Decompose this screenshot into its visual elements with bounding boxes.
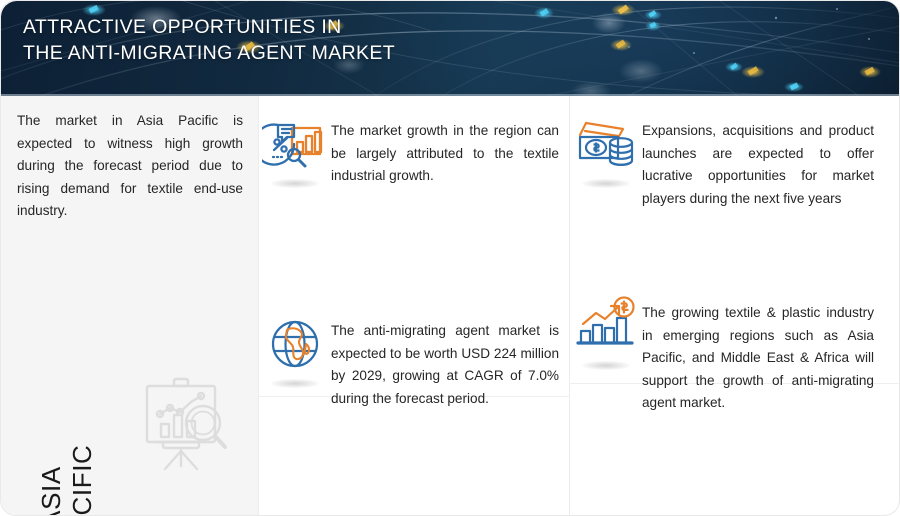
icon-shadow: [271, 179, 319, 188]
icon-container: [259, 114, 331, 194]
icon-container: [570, 114, 642, 194]
icon-shadow: [582, 179, 630, 188]
icon-container: [570, 296, 642, 376]
insight-text: Expansions, acquisitions and product lau…: [642, 114, 874, 210]
header-banner: ATTRACTIVE OPPORTUNITIES IN THE ANTI-MIG…: [1, 1, 900, 96]
page-title: ATTRACTIVE OPPORTUNITIES IN THE ANTI-MIG…: [23, 14, 395, 66]
growth-bar-chart-dollar-icon: [574, 296, 638, 356]
insight-cell: Expansions, acquisitions and product lau…: [570, 114, 900, 210]
money-banknote-coins-icon: [574, 114, 638, 174]
globe-icon: [265, 314, 325, 374]
icon-container: [259, 314, 331, 394]
infographic-card: ATTRACTIVE OPPORTUNITIES IN THE ANTI-MIG…: [0, 0, 900, 516]
insight-cell: The market growth in the region can be l…: [259, 114, 569, 194]
insight-text: The anti-migrating agent market is expec…: [331, 314, 559, 410]
insight-text: The market growth in the region can be l…: [331, 114, 559, 188]
icon-shadow: [271, 379, 319, 388]
region-summary-panel: The market in Asia Pacific is expected t…: [1, 96, 258, 516]
region-summary-text: The market in Asia Pacific is expected t…: [17, 110, 243, 223]
insight-cell: The growing textile & plastic industry i…: [570, 296, 900, 415]
insight-cell: The anti-migrating agent market is expec…: [259, 314, 569, 410]
icon-shadow: [582, 361, 630, 370]
presentation-board-chart-magnifier-icon: [129, 371, 233, 475]
insight-text: The growing textile & plastic industry i…: [642, 296, 874, 415]
market-analytics-percent-bar-chart-icon: [262, 114, 328, 178]
content-area: The market in Asia Pacific is expected t…: [1, 96, 900, 516]
region-label: ASIA PACIFIC: [36, 439, 98, 516]
